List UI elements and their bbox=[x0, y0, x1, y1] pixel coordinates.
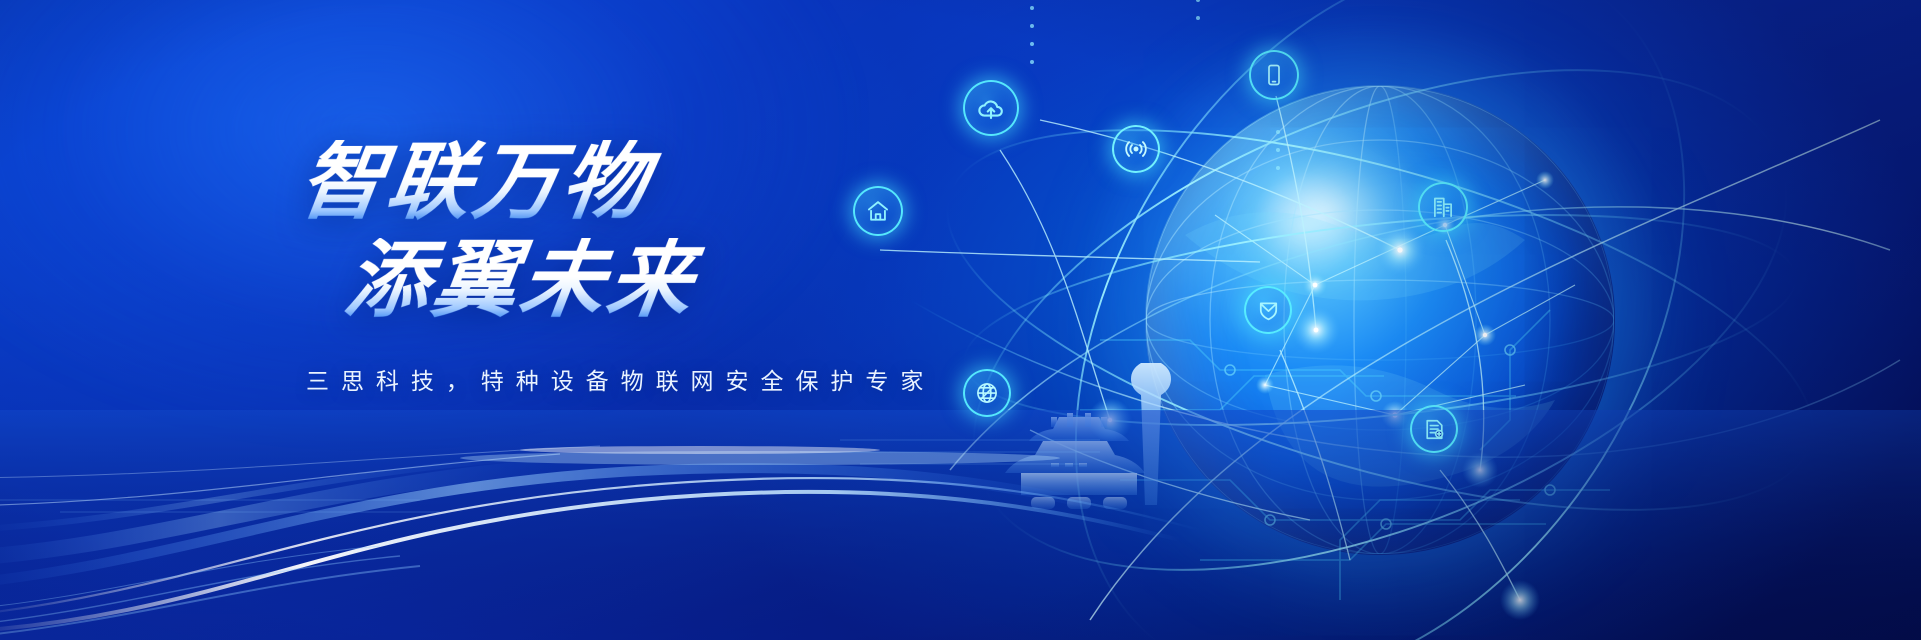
document-icon bbox=[1422, 417, 1447, 442]
globe-network-icon bbox=[974, 380, 1000, 406]
shield-icon bbox=[1256, 298, 1281, 323]
node-mobile-phone[interactable] bbox=[1249, 50, 1299, 100]
node-wifi-signal[interactable] bbox=[1112, 125, 1160, 173]
node-shield[interactable] bbox=[1244, 286, 1292, 334]
node-globe-network[interactable] bbox=[963, 369, 1011, 417]
home-icon bbox=[865, 198, 891, 224]
node-cloud-upload[interactable] bbox=[963, 80, 1019, 136]
wifi-signal-icon bbox=[1123, 136, 1149, 162]
hero-banner: 智联万物 添翼未来 三思科技，特种设备物联网安全保护专家 bbox=[0, 0, 1921, 640]
node-document[interactable] bbox=[1410, 405, 1458, 453]
building-icon bbox=[1430, 194, 1456, 220]
node-home[interactable] bbox=[853, 186, 903, 236]
icon-node-layer bbox=[0, 0, 1921, 640]
node-building[interactable] bbox=[1418, 182, 1468, 232]
cloud-upload-icon bbox=[976, 93, 1006, 123]
mobile-phone-icon bbox=[1262, 63, 1286, 87]
